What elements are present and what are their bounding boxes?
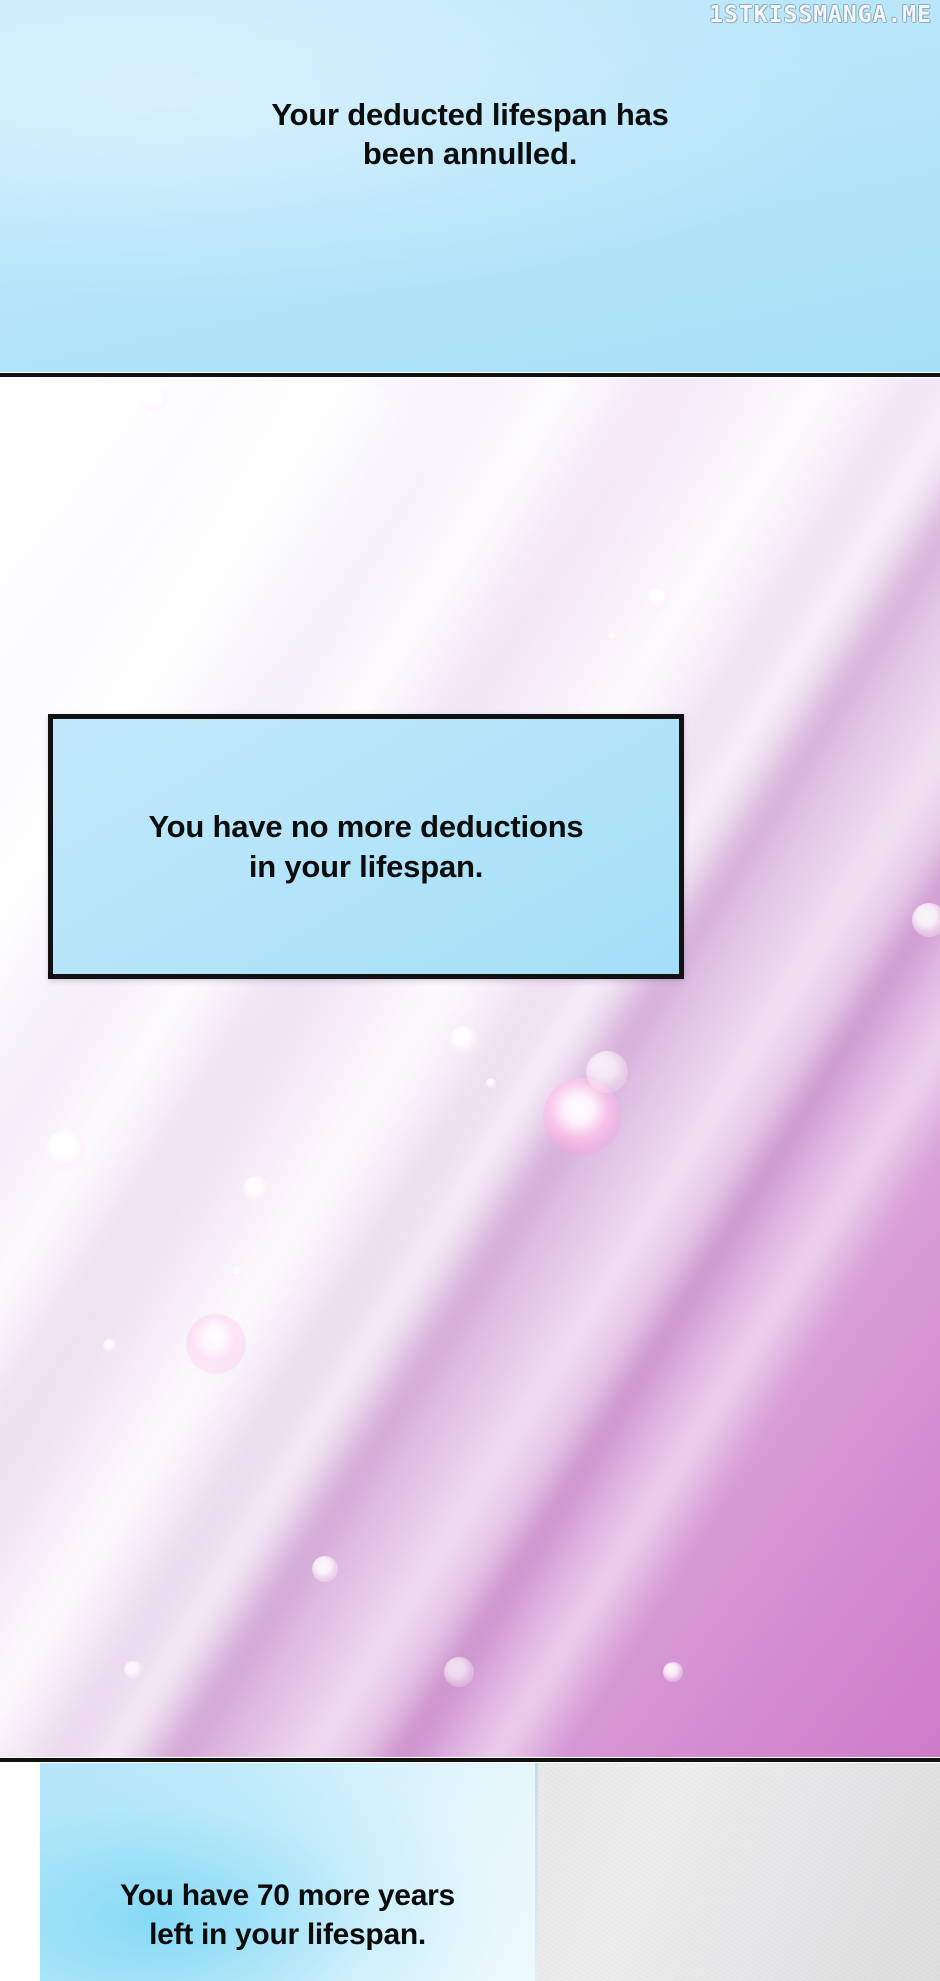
bokeh-orb — [232, 1266, 242, 1276]
bokeh-orb-pink — [186, 1314, 246, 1374]
bokeh-orb — [450, 1026, 478, 1054]
light-ray — [0, 378, 419, 1757]
bokeh-orb — [142, 386, 168, 412]
bokeh-orb — [124, 1661, 142, 1679]
bokeh-orb-pink — [543, 1078, 621, 1156]
bokeh-orb — [663, 1662, 683, 1682]
panel-middle: You have no more deductions in your life… — [0, 378, 940, 1757]
bokeh-orb — [608, 632, 617, 641]
dialog-box-caption-line-1: You have no more deductions — [149, 807, 584, 847]
light-ray — [0, 378, 677, 1757]
bokeh-orb — [648, 588, 670, 610]
panel-bottom-caption-line-2: left in your lifespan. — [40, 1915, 535, 1954]
speech-panel-edge — [535, 1763, 538, 1981]
bokeh-orb — [912, 903, 940, 937]
panel-top: 1STKISSMANGA.ME Your deducted lifespan h… — [0, 0, 940, 375]
site-watermark: 1STKISSMANGA.ME — [709, 2, 932, 28]
wall-texture — [538, 1763, 940, 1981]
panel-bottom: You have 70 more years left in your life… — [0, 1763, 940, 1981]
bokeh-orb — [444, 1657, 474, 1687]
dialog-box-caption: You have no more deductions in your life… — [149, 807, 584, 887]
panel-top-caption: Your deducted lifespan has been annulled… — [0, 95, 940, 174]
bokeh-orb — [46, 1130, 86, 1170]
bokeh-orb — [243, 1176, 269, 1202]
dialog-box-caption-line-2: in your lifespan. — [149, 847, 584, 887]
comic-page: 1STKISSMANGA.ME Your deducted lifespan h… — [0, 0, 940, 1981]
light-ray — [82, 378, 940, 1757]
bokeh-orb — [103, 1339, 116, 1352]
panel-bottom-caption-line-1: You have 70 more years — [40, 1876, 535, 1915]
bokeh-orb — [312, 1556, 338, 1582]
bokeh-orb — [586, 1051, 628, 1093]
light-ray — [0, 378, 940, 1757]
dialog-box: You have no more deductions in your life… — [48, 714, 684, 979]
light-ray — [0, 378, 940, 1757]
bokeh-orb — [98, 378, 113, 383]
panel-top-caption-line-1: Your deducted lifespan has — [0, 95, 940, 134]
bokeh-orb — [486, 1078, 496, 1088]
light-ray-dark — [0, 378, 940, 1757]
bokeh-orb — [205, 1318, 235, 1348]
panel-top-caption-line-2: been annulled. — [0, 134, 940, 173]
light-ray — [265, 378, 940, 1757]
light-ray-dark — [195, 378, 940, 1757]
panel-bottom-caption: You have 70 more years left in your life… — [40, 1876, 535, 1954]
